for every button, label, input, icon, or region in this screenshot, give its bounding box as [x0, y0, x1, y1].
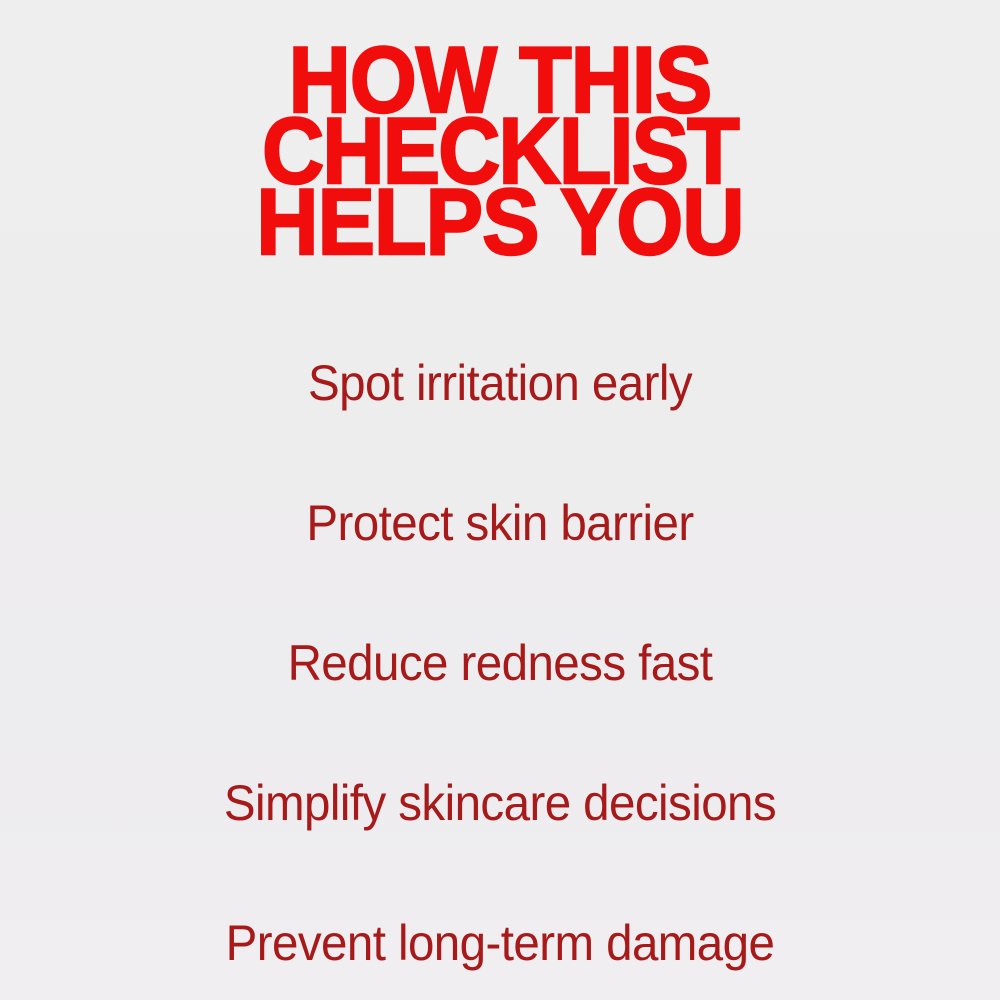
benefit-item-3: Reduce redness fast — [25, 593, 975, 733]
page-title: HOW THIS CHECKLIST HELPS YOU — [0, 44, 1000, 257]
benefit-item-5: Prevent long-term damage — [25, 873, 975, 1000]
benefit-item-1: Spot irritation early — [25, 313, 975, 453]
benefit-item-2: Protect skin barrier — [25, 453, 975, 593]
poster-canvas: HOW THIS CHECKLIST HELPS YOU Spot irrita… — [0, 0, 1000, 1000]
benefits-list: Spot irritation early Protect skin barri… — [0, 313, 1000, 1000]
page-title-line-3: HELPS YOU — [43, 186, 958, 257]
benefit-item-4: Simplify skincare decisions — [25, 733, 975, 873]
